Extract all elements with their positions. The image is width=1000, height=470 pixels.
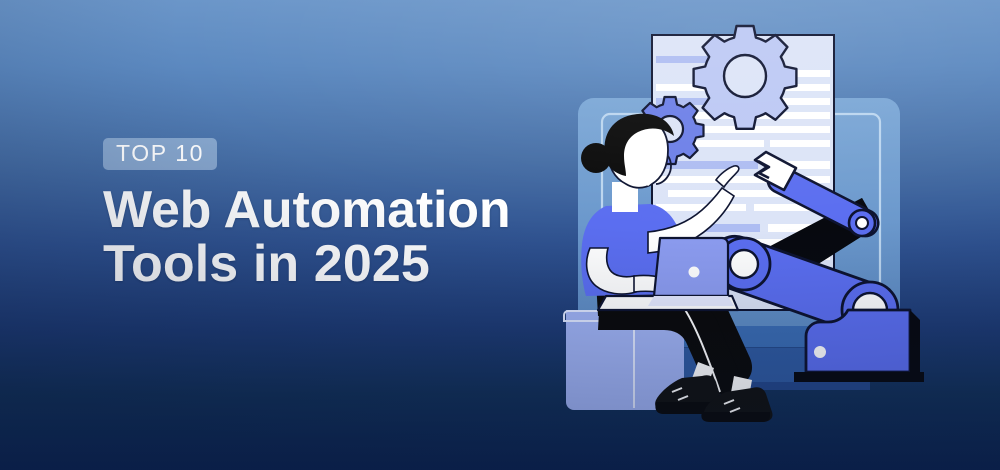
headline-line-2: Tools in 2025 (103, 238, 510, 292)
page-title: Web Automation Tools in 2025 (103, 184, 510, 291)
banner-root: TOP 10 Web Automation Tools in 2025 (0, 0, 1000, 470)
headline-block: TOP 10 Web Automation Tools in 2025 (103, 138, 510, 291)
top-10-badge: TOP 10 (103, 138, 217, 170)
large-gear-icon (694, 26, 797, 129)
headline-line-1: Web Automation (103, 184, 510, 238)
hero-illustration (548, 10, 994, 462)
